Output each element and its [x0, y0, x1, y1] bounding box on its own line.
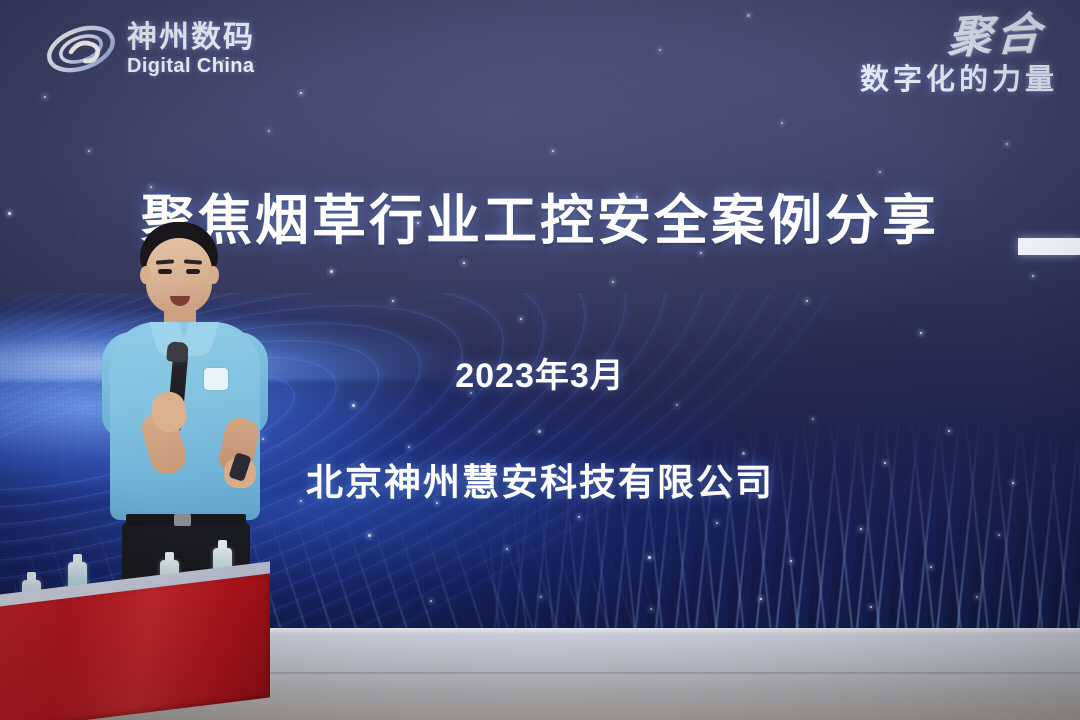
light-particle	[1006, 143, 1008, 145]
light-particle	[790, 560, 792, 562]
speaker-ear-right	[208, 266, 219, 284]
light-particle	[781, 122, 783, 124]
light-particle	[368, 534, 371, 537]
light-particle	[870, 606, 872, 608]
light-particle	[578, 516, 580, 518]
light-particle	[920, 332, 922, 334]
digital-china-wordmark: 神州数码 Digital China	[127, 23, 255, 76]
light-particle	[330, 270, 333, 273]
light-particle	[300, 92, 302, 94]
speaker-ear-left	[140, 266, 151, 284]
digital-china-logo: 神州数码 Digital China	[44, 18, 255, 80]
light-particle	[540, 596, 542, 598]
speaker-eye-left	[158, 269, 172, 274]
light-particle	[976, 596, 978, 598]
light-particle	[612, 281, 614, 283]
light-particle	[538, 430, 541, 433]
light-particle	[1032, 275, 1034, 277]
event-brush-title: 聚合	[947, 11, 1060, 61]
light-particle	[948, 430, 950, 432]
light-particle	[659, 49, 661, 51]
light-particle	[998, 534, 1000, 536]
light-particle	[552, 150, 554, 152]
light-particle	[520, 318, 522, 320]
light-particle	[879, 171, 881, 173]
event-logo: 聚合 数字化的力量	[860, 14, 1058, 98]
brand-name-cn: 神州数码	[127, 23, 255, 53]
light-particle	[676, 404, 678, 406]
speaker-eye-right	[186, 269, 200, 274]
digital-china-swirl-icon	[44, 18, 118, 80]
light-particle	[648, 556, 651, 559]
judges-table	[0, 570, 280, 720]
light-particle	[430, 600, 432, 602]
light-particle	[930, 566, 932, 568]
light-particle	[812, 418, 814, 420]
speaker-belt-buckle	[174, 514, 191, 526]
light-particle	[268, 130, 270, 132]
microphone-head	[166, 341, 189, 363]
light-particle	[860, 528, 862, 530]
light-particle	[392, 300, 394, 302]
light-particle	[506, 548, 508, 550]
light-particle	[44, 96, 46, 98]
light-particle	[806, 300, 808, 302]
speaker-shirt-logo	[204, 368, 228, 390]
light-particle	[352, 404, 355, 407]
light-particle	[408, 446, 410, 448]
light-particle	[463, 262, 465, 264]
light-particle	[650, 608, 652, 610]
brand-name-en: Digital China	[127, 56, 255, 76]
light-particle	[747, 14, 750, 17]
light-particle	[760, 598, 762, 600]
light-particle	[716, 522, 718, 524]
light-particle	[88, 150, 90, 152]
conference-stage-photo: 神州数码 Digital China 聚合 数字化的力量 聚焦烟草行业工控安全案…	[0, 0, 1080, 720]
